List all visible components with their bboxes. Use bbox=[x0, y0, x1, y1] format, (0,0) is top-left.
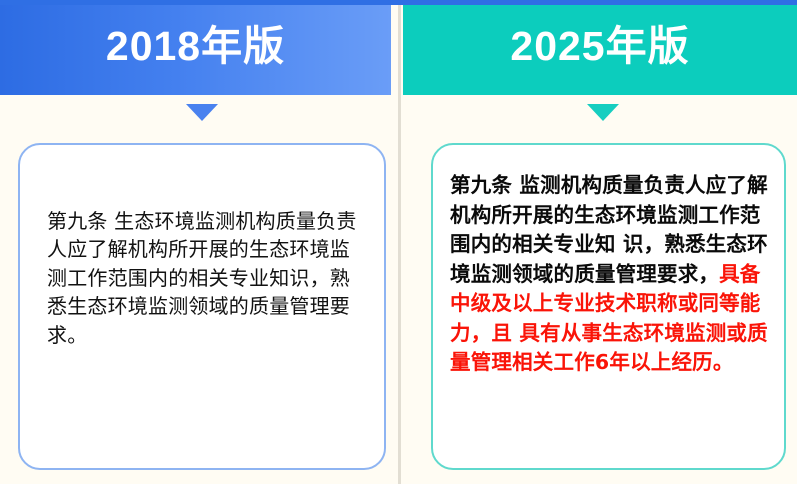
top-accent-rule bbox=[0, 0, 797, 5]
content-card-2018: 第九条 生态环境监测机构质量负责人应了解机构所开展的生态环境监测工作范围内的相关… bbox=[18, 143, 386, 470]
banner-2018-title: 2018年版 bbox=[106, 26, 285, 69]
column-divider bbox=[398, 0, 401, 484]
comparison-column-2025: 2025年版 第九条 监测机构质量负责人应了解机构所开展的生态环境监测工作范围内… bbox=[397, 0, 797, 484]
comparison-column-2018: 2018年版 第九条 生态环境监测机构质量负责人应了解机构所开展的生态环境监测工… bbox=[0, 0, 397, 484]
content-card-2018-text: 第九条 生态环境监测机构质量负责人应了解机构所开展的生态环境监测工作范围内的相关… bbox=[20, 145, 384, 349]
caret-down-icon-2025 bbox=[587, 104, 619, 121]
banner-2025: 2025年版 bbox=[403, 0, 797, 95]
content-card-2025: 第九条 监测机构质量负责人应了解机构所开展的生态环境监测工作范围内的相关专业知 … bbox=[431, 143, 786, 470]
caret-down-icon-2018 bbox=[186, 104, 218, 121]
banner-2018: 2018年版 bbox=[0, 0, 391, 95]
content-card-2025-text: 第九条 监测机构质量负责人应了解机构所开展的生态环境监测工作范围内的相关专业知 … bbox=[433, 145, 784, 378]
banner-2025-title: 2025年版 bbox=[510, 26, 689, 69]
